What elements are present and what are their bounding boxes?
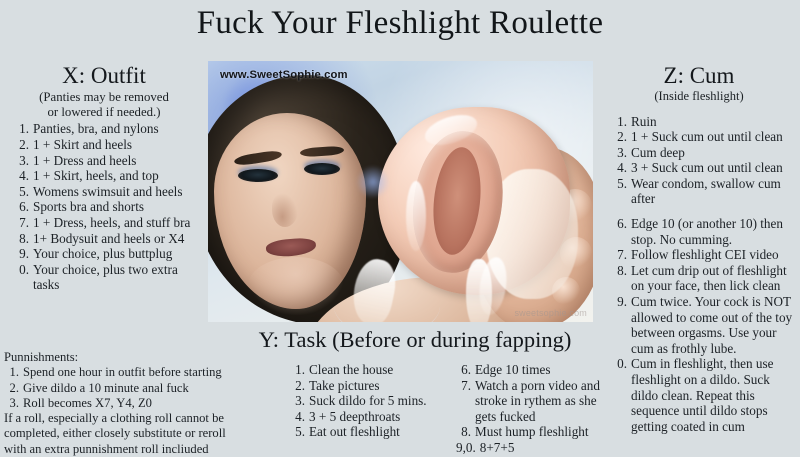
task-right-item-number: 9,0. bbox=[456, 440, 480, 456]
outfit-item-text: 1 + Dress, heels, and stuff bra bbox=[33, 215, 204, 231]
cum-item: 7.Follow fleshlight CEI video bbox=[612, 247, 798, 263]
task-lists: 1.Clean the house2.Take pictures3.Suck d… bbox=[290, 362, 620, 455]
column-cum: Z: Cum (Inside fleshlight) 1.Ruin2.1 + S… bbox=[600, 62, 798, 434]
cum-item-text: Follow fleshlight CEI video bbox=[631, 247, 798, 263]
outfit-item-text: 1 + Skirt, heels, and top bbox=[33, 168, 204, 184]
outfit-item-text: 1+ Bodysuit and heels or X4 bbox=[33, 231, 204, 247]
punishment-item: 3.Roll becomes X7, Y4, Z0 bbox=[4, 396, 234, 411]
cum-item-text: Edge 10 (or another 10) then stop. No cu… bbox=[631, 216, 798, 247]
punishment-item: 2.Give dildo a 10 minute anal fuck bbox=[4, 381, 234, 396]
punishment-item: 1.Spend one hour in outfit before starti… bbox=[4, 365, 234, 380]
outfit-item-text: Your choice, plus buttplug bbox=[33, 246, 204, 262]
cum-item: 2.1 + Suck cum out until clean bbox=[612, 129, 798, 145]
task-left-item-text: Clean the house bbox=[309, 362, 442, 378]
task-right-item-text: Must hump fleshlight bbox=[475, 424, 608, 440]
task-left-item-number: 1. bbox=[290, 362, 309, 378]
outfit-item: 8.1+ Bodysuit and heels or X4 bbox=[14, 231, 204, 247]
task-left-item-text: Eat out fleshlight bbox=[309, 424, 442, 440]
outfit-item-text: Panties, bra, and nylons bbox=[33, 121, 204, 137]
cum-item-number: 2. bbox=[612, 129, 631, 145]
cum-item: 3.Cum deep bbox=[612, 145, 798, 161]
task-left-item: 4.3 + 5 deepthroats bbox=[290, 409, 442, 425]
punishments-block: Punnishments: 1.Spend one hour in outfit… bbox=[4, 350, 234, 457]
task-right-item-text: 8+7+5 bbox=[480, 440, 608, 456]
outfit-item: 7.1 + Dress, heels, and stuff bra bbox=[14, 215, 204, 231]
task-left-item-number: 2. bbox=[290, 378, 309, 394]
cum-item-text: 3 + Suck cum out until clean bbox=[631, 160, 798, 176]
task-column-right: 6.Edge 10 times7.Watch a porn video and … bbox=[456, 362, 608, 455]
outfit-item: 6.Sports bra and shorts bbox=[14, 199, 204, 215]
cum-item: 6.Edge 10 (or another 10) then stop. No … bbox=[612, 216, 798, 247]
lens-flare-small-icon bbox=[356, 165, 390, 199]
cum-item-number: 4. bbox=[612, 160, 631, 176]
task-left-item: 2.Take pictures bbox=[290, 378, 442, 394]
photo-gloss-2 bbox=[406, 181, 426, 251]
outfit-list: 1.Panties, bra, and nylons2.1 + Skirt an… bbox=[14, 121, 204, 293]
cum-item: 9.Cum twice. Your cock is NOT allowed to… bbox=[612, 294, 798, 356]
outfit-item: 3.1 + Dress and heels bbox=[14, 153, 204, 169]
outfit-item-text: Sports bra and shorts bbox=[33, 199, 204, 215]
task-right-item-number: 8. bbox=[456, 424, 475, 440]
outfit-item-number: 7. bbox=[14, 215, 33, 231]
task-left-item: 5.Eat out fleshlight bbox=[290, 424, 442, 440]
outfit-item: 1.Panties, bra, and nylons bbox=[14, 121, 204, 137]
cum-item-text: Let cum drip out of fleshlight on your f… bbox=[631, 263, 798, 294]
outfit-item: 2.1 + Skirt and heels bbox=[14, 137, 204, 153]
punishments-list: 1.Spend one hour in outfit before starti… bbox=[4, 365, 234, 411]
punishment-item-text: Give dildo a 10 minute anal fuck bbox=[23, 381, 234, 396]
photo-eye-right bbox=[304, 163, 340, 175]
punishment-item-number: 2. bbox=[4, 381, 23, 396]
punishment-item-number: 3. bbox=[4, 396, 23, 411]
cum-list: 1.Ruin2.1 + Suck cum out until clean3.Cu… bbox=[612, 114, 798, 435]
cum-heading: Z: Cum bbox=[600, 62, 798, 89]
punishment-item-text: Spend one hour in outfit before starting bbox=[23, 365, 234, 380]
cum-item: 8.Let cum drip out of fleshlight on your… bbox=[612, 263, 798, 294]
task-left-item-text: 3 + 5 deepthroats bbox=[309, 409, 442, 425]
task-left-item-text: Suck dildo for 5 mins. bbox=[309, 393, 442, 409]
outfit-item: 9.Your choice, plus buttplug bbox=[14, 246, 204, 262]
outfit-item: 5.Womens swimsuit and heels bbox=[14, 184, 204, 200]
photo-eye-left bbox=[238, 169, 278, 182]
page-title: Fuck Your Fleshlight Roulette bbox=[0, 4, 800, 42]
task-right-item-text: Watch a porn video and stroke in rythem … bbox=[475, 378, 608, 425]
outfit-item-text: 1 + Dress and heels bbox=[33, 153, 204, 169]
cum-item: 5.Wear condom, swallow cum after bbox=[612, 176, 798, 207]
outfit-note: (Panties may be removed or lowered if ne… bbox=[4, 90, 204, 120]
cum-item-text: Wear condom, swallow cum after bbox=[631, 176, 798, 207]
task-left-item-number: 5. bbox=[290, 424, 309, 440]
photo-watermark-bottom: sweetsophie.com bbox=[514, 308, 587, 318]
photo-chin bbox=[248, 257, 344, 315]
outfit-item-number: 4. bbox=[14, 168, 33, 184]
cum-item-number: 3. bbox=[612, 145, 631, 161]
column-outfit: X: Outfit (Panties may be removed or low… bbox=[4, 62, 204, 293]
task-right-item: 6.Edge 10 times bbox=[456, 362, 608, 378]
cum-subtitle: (Inside fleshlight) bbox=[600, 89, 798, 104]
task-right-item-text: Edge 10 times bbox=[475, 362, 608, 378]
cum-item: 4.3 + Suck cum out until clean bbox=[612, 160, 798, 176]
task-left-item-number: 3. bbox=[290, 393, 309, 409]
outfit-note-line2: or lowered if needed.) bbox=[4, 105, 204, 120]
outfit-item-text: 1 + Skirt and heels bbox=[33, 137, 204, 153]
task-right-item: 8.Must hump fleshlight bbox=[456, 424, 608, 440]
outfit-item-number: 6. bbox=[14, 199, 33, 215]
outfit-item-number: 0. bbox=[14, 262, 33, 293]
outfit-item-text: Womens swimsuit and heels bbox=[33, 184, 204, 200]
outfit-item-number: 2. bbox=[14, 137, 33, 153]
cum-item: 1.Ruin bbox=[612, 114, 798, 130]
task-right-item: 9,0.8+7+5 bbox=[456, 440, 608, 456]
fleshlight-photo: www.SweetSophie.com sweetsophie.com bbox=[208, 61, 593, 322]
cum-item-text: 1 + Suck cum out until clean bbox=[631, 129, 798, 145]
cum-item-text: Cum twice. Your cock is NOT allowed to c… bbox=[631, 294, 798, 356]
cum-item-text: Cum deep bbox=[631, 145, 798, 161]
outfit-item: 0.Your choice, plus two extra tasks bbox=[14, 262, 204, 293]
outfit-item-number: 1. bbox=[14, 121, 33, 137]
task-left-item-text: Take pictures bbox=[309, 378, 442, 394]
task-right-item-number: 6. bbox=[456, 362, 475, 378]
punishment-item-text: Roll becomes X7, Y4, Z0 bbox=[23, 396, 234, 411]
roulette-sheet: Fuck Your Fleshlight Roulette X: Outfit … bbox=[0, 0, 800, 451]
task-right-item-number: 7. bbox=[456, 378, 475, 425]
cum-item-number: 1. bbox=[612, 114, 631, 130]
task-column-left: 1.Clean the house2.Take pictures3.Suck d… bbox=[290, 362, 442, 455]
photo-drip-toy bbox=[466, 259, 492, 322]
punishment-item-number: 1. bbox=[4, 365, 23, 380]
photo-nose bbox=[272, 193, 298, 227]
cum-item: 0.Cum in fleshlight, then use fleshlight… bbox=[612, 356, 798, 434]
photo-watermark-top: www.SweetSophie.com bbox=[220, 69, 348, 81]
cum-item-text: Cum in fleshlight, then use fleshlight o… bbox=[631, 356, 798, 434]
cum-item-number: 5. bbox=[612, 176, 631, 207]
cum-item-number: 8. bbox=[612, 263, 631, 294]
task-list-right: 6.Edge 10 times7.Watch a porn video and … bbox=[456, 362, 608, 455]
task-right-item: 7.Watch a porn video and stroke in rythe… bbox=[456, 378, 608, 425]
outfit-item: 4.1 + Skirt, heels, and top bbox=[14, 168, 204, 184]
outfit-note-line1: (Panties may be removed bbox=[4, 90, 204, 105]
punishments-title: Punnishments: bbox=[4, 350, 234, 365]
cum-item-text: Ruin bbox=[631, 114, 798, 130]
task-left-item-number: 4. bbox=[290, 409, 309, 425]
cum-item-number: 6. bbox=[612, 216, 631, 247]
outfit-item-number: 5. bbox=[14, 184, 33, 200]
outfit-item-number: 3. bbox=[14, 153, 33, 169]
cum-item-number: 7. bbox=[612, 247, 631, 263]
punishments-note: If a roll, especially a clothing roll ca… bbox=[4, 411, 234, 457]
outfit-item-text: Your choice, plus two extra tasks bbox=[33, 262, 204, 293]
outfit-item-number: 8. bbox=[14, 231, 33, 247]
task-left-item: 3.Suck dildo for 5 mins. bbox=[290, 393, 442, 409]
outfit-item-number: 9. bbox=[14, 246, 33, 262]
task-heading: Y: Task (Before or during fapping) bbox=[200, 327, 630, 353]
task-list-left: 1.Clean the house2.Take pictures3.Suck d… bbox=[290, 362, 442, 440]
outfit-heading: X: Outfit bbox=[4, 62, 204, 89]
task-left-item: 1.Clean the house bbox=[290, 362, 442, 378]
